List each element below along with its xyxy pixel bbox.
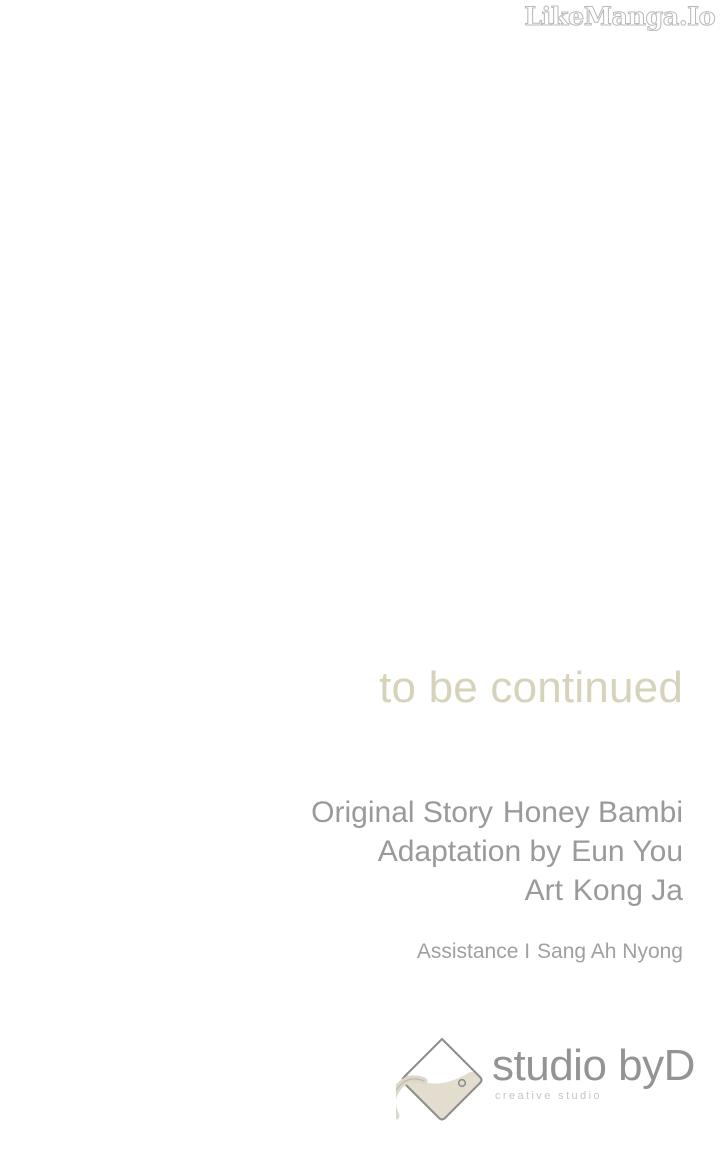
to-be-continued-text: to be continued	[0, 666, 683, 710]
studio-logo: studio byD creative studio	[396, 1032, 686, 1124]
credits-block: Original StoryHoney Bambi Adaptation byE…	[0, 793, 683, 910]
credit-role: Original Story	[311, 796, 493, 829]
credit-name: Honey Bambi	[503, 796, 683, 829]
studio-wordmark: studio byD	[492, 1044, 695, 1088]
studio-wordmark-group: studio byD creative studio	[492, 1044, 695, 1102]
studio-tagline: creative studio	[495, 1090, 602, 1102]
comic-end-page: LikeManga.Io to be continued Original St…	[0, 0, 720, 1152]
assistance-names: Sang Ah Nyong	[537, 940, 683, 963]
site-watermark: LikeManga.Io	[524, 2, 715, 31]
assistance-role: Assistance I	[417, 940, 530, 963]
credit-line: Original StoryHoney Bambi	[0, 793, 683, 832]
assistance-line: Assistance ISang Ah Nyong	[0, 938, 683, 966]
credit-role: Art	[525, 874, 563, 907]
credit-line: ArtKong Ja	[0, 871, 683, 910]
credit-name: Eun You	[571, 835, 683, 868]
diamond-wave-logo-icon	[396, 1034, 488, 1124]
credit-line: Adaptation byEun You	[0, 832, 683, 871]
credit-name: Kong Ja	[573, 874, 683, 907]
credit-role: Adaptation by	[378, 835, 561, 868]
